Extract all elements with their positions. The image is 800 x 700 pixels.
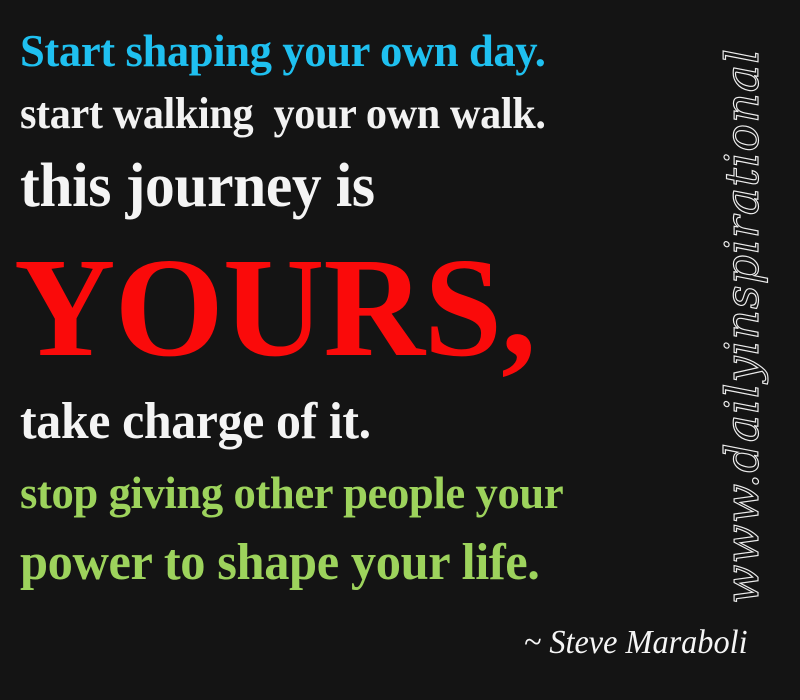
quote-line-5: take charge of it. xyxy=(20,396,371,448)
quote-attribution: ~ Steve Maraboli xyxy=(524,624,748,662)
quote-line-7: power to shape your life. xyxy=(20,537,539,589)
quote-line-1: Start shaping your own day. xyxy=(20,28,546,74)
quote-text-block: Start shaping your own day. start walkin… xyxy=(0,0,720,620)
quote-line-3: this journey is xyxy=(20,155,375,217)
quote-line-2: start walking your own walk. xyxy=(20,92,546,136)
quote-poster: Start shaping your own day. start walkin… xyxy=(0,0,800,700)
quote-line-6: stop giving other people your xyxy=(20,470,563,516)
quote-line-4-emphasis: YOURS, xyxy=(14,236,535,378)
